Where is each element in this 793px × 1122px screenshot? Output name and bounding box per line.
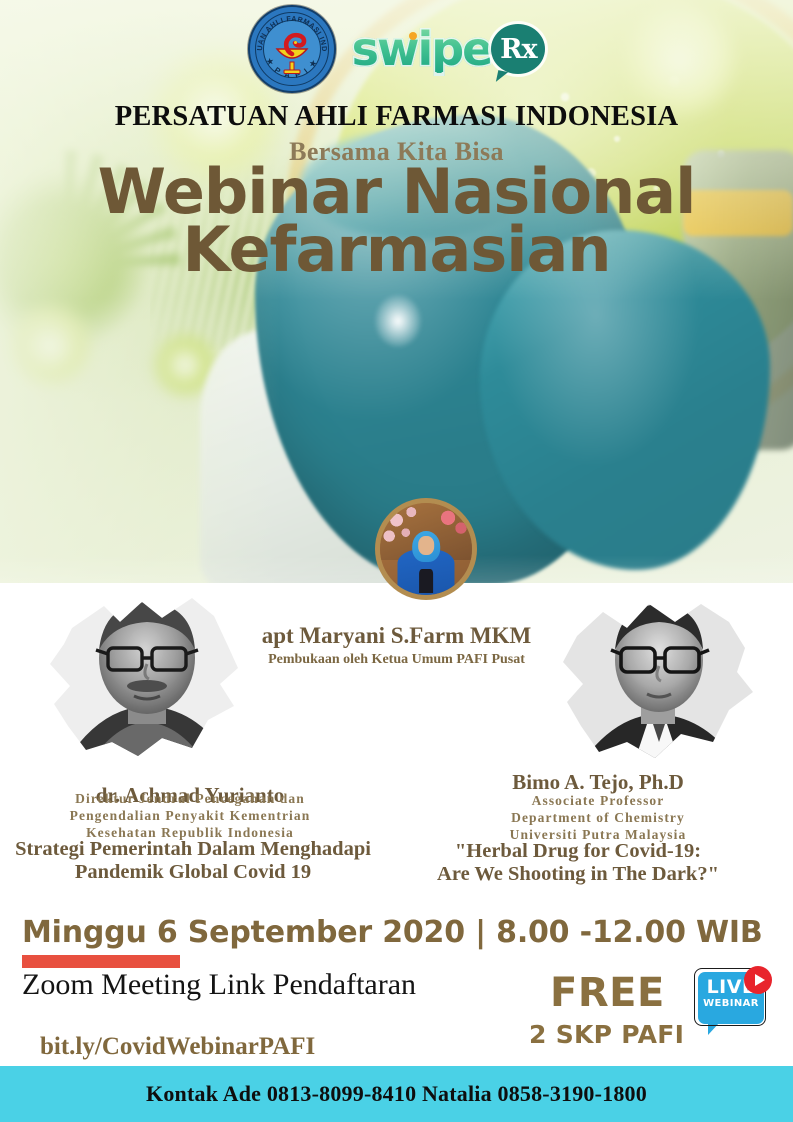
- speaker-photo-right: [553, 592, 763, 772]
- pafi-logo-icon: PERSATUAN AHLI FARMASI INDONESIA ★ P A F…: [248, 5, 336, 93]
- speaker-topic-left: Strategi Pemerintah Dalam Menghadapi Pan…: [0, 838, 408, 884]
- speaker-topic-left-line1: Strategi Pemerintah Dalam Menghadapi: [0, 838, 408, 861]
- swipe-i-dot-icon: [409, 32, 417, 40]
- price-free-label: FREE: [550, 970, 665, 1016]
- speaker-name-right: Bimo A. Tejo, Ph.D: [398, 770, 793, 795]
- contact-footer: Kontak Ade 0813-8099-8410 Natalia 0858-3…: [0, 1066, 793, 1122]
- logo-row: PERSATUAN AHLI FARMASI INDONESIA ★ P A F…: [0, 6, 793, 92]
- organization-name: PERSATUAN AHLI FARMASI INDONESIA: [0, 102, 793, 132]
- registration-link[interactable]: bit.ly/CovidWebinarPAFI: [40, 1033, 315, 1061]
- speaker-topic-right-line1: "Herbal Drug for Covid-19:: [363, 840, 793, 863]
- speaker-affiliation-left-line2: Pengendalian Penyakit Kementrian: [0, 808, 390, 825]
- platform-label: Zoom Meeting Link Pendaftaran: [22, 968, 416, 1002]
- speaker-topic-right: "Herbal Drug for Covid-19: Are We Shooti…: [363, 840, 793, 886]
- host-photo-collar: [419, 569, 433, 593]
- host-avatar: [375, 498, 477, 600]
- speaker-topic-right-line2: Are We Shooting in The Dark?": [363, 863, 793, 886]
- play-icon: [744, 966, 772, 994]
- live-webinar-badge: LIVE WEBINAR: [694, 966, 772, 1040]
- play-triangle-icon: [755, 974, 765, 986]
- svg-text:PERSATUAN AHLI FARMASI INDONES: PERSATUAN AHLI FARMASI INDONESIA: [250, 7, 329, 52]
- rx-speech-bubble-icon: Rx: [491, 24, 545, 74]
- speaker-affiliation-right-line1: Associate Professor: [398, 793, 793, 810]
- swipe-wordmark-fill: swipe: [352, 26, 492, 72]
- speaker-photo-left: [42, 588, 252, 768]
- event-datetime: Minggu 6 September 2020 | 8.00 -12.00 WI…: [22, 915, 763, 950]
- speaker-topic-left-line2: Pandemik Global Covid 19: [0, 861, 408, 884]
- live-badge-webinar-label: WEBINAR: [698, 999, 764, 1009]
- webinar-poster: PERSATUAN AHLI FARMASI INDONESIA ★ P A F…: [0, 0, 793, 1122]
- main-title-line2: Kefarmasian: [0, 221, 793, 279]
- speaker-affiliation-left: Direktur Jendral Pencegahan dan Pengenda…: [0, 791, 390, 842]
- red-accent-bar: [22, 955, 180, 968]
- page-title: Webinar Nasional Kefarmasian: [0, 163, 793, 280]
- speaker-affiliation-right-line2: Department of Chemistry: [398, 810, 793, 827]
- contact-text: Kontak Ade 0813-8099-8410 Natalia 0858-3…: [146, 1081, 647, 1107]
- speaker-affiliation-right: Associate Professor Department of Chemis…: [398, 793, 793, 844]
- glove-highlight: [375, 295, 421, 347]
- pafi-bowl-of-hygieia-icon: PERSATUAN AHLI FARMASI INDONESIA ★ P A F…: [250, 7, 334, 91]
- host-photo-face: [418, 536, 434, 554]
- speaker-affiliation-left-line1: Direktur Jendral Pencegahan dan: [0, 791, 390, 808]
- host-photo: [380, 503, 472, 595]
- swiperx-logo: swipe swipe Rx: [352, 24, 546, 74]
- rx-label: Rx: [500, 36, 537, 63]
- skp-credit-label: 2 SKP PAFI: [529, 1020, 684, 1049]
